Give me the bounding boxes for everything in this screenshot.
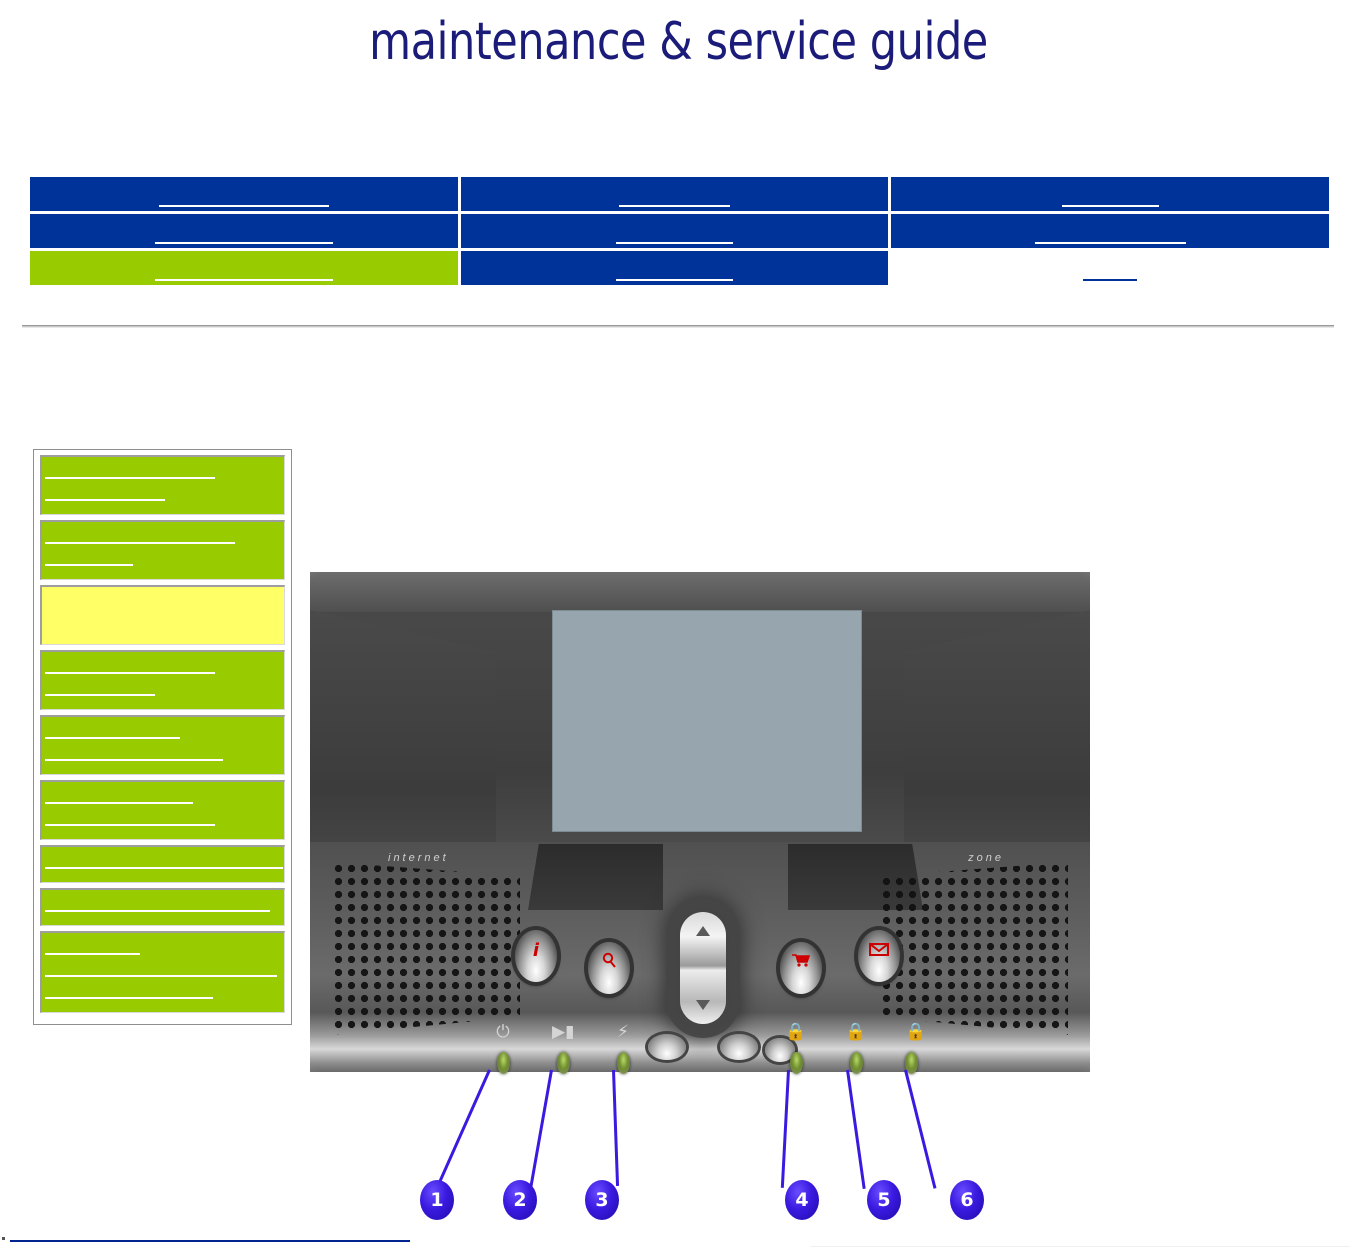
volume-rocker[interactable] xyxy=(680,912,726,1024)
left-hinge-panel xyxy=(528,844,663,910)
sidebar-link-4[interactable] xyxy=(45,659,281,703)
callout-1: 1 xyxy=(420,1180,454,1220)
sidebar-item-4[interactable] xyxy=(40,650,285,710)
rocker-up-icon xyxy=(696,926,710,936)
product-figure: internet zone i xyxy=(300,530,1100,1130)
ac-plug-icon: ⚡ xyxy=(612,1022,634,1042)
callout-4: 4 xyxy=(785,1180,819,1220)
info-icon: i xyxy=(515,940,557,961)
nav-row xyxy=(30,177,1329,211)
page-root: maintenance & service guide xyxy=(0,0,1357,1252)
mute-button[interactable] xyxy=(648,1034,686,1060)
sidebar-item-5[interactable] xyxy=(40,715,285,775)
nav-link-r3c2[interactable] xyxy=(616,266,733,281)
sidebar-item-7[interactable] xyxy=(40,845,285,883)
shopping-cart-icon xyxy=(780,952,822,973)
nav-cell-r3c2[interactable] xyxy=(461,251,888,285)
nav-cell-r3c1[interactable] xyxy=(30,251,458,285)
sidebar-item-2[interactable] xyxy=(40,520,285,580)
callout-5: 5 xyxy=(867,1180,901,1220)
display-screen xyxy=(552,610,862,832)
sidebar-item-9[interactable] xyxy=(40,931,285,1013)
sidebar-item-8[interactable] xyxy=(40,888,285,926)
nav-cell-r2c1[interactable] xyxy=(30,214,458,248)
battery-icon: ▶▮ xyxy=(552,1022,574,1042)
battery-led xyxy=(557,1052,570,1074)
scroll-lock-icon: 🔒 xyxy=(905,1022,927,1042)
nav-link-r2c2[interactable] xyxy=(616,229,733,244)
callout-3: 3 xyxy=(585,1180,619,1220)
search-button[interactable] xyxy=(588,942,630,994)
sidebar-link-1[interactable] xyxy=(45,464,281,508)
right-speaker-grille xyxy=(880,862,1068,1042)
sidebar-item-1[interactable] xyxy=(40,455,285,515)
sidebar-menu xyxy=(33,449,292,1025)
nav-cell-r1c3[interactable] xyxy=(891,177,1329,211)
nav-link-r1c3[interactable] xyxy=(1062,192,1159,207)
info-button[interactable]: i xyxy=(515,930,557,982)
sidebar-link-7[interactable] xyxy=(45,854,281,876)
page-title: maintenance & service guide xyxy=(54,12,1302,72)
shopping-button[interactable] xyxy=(780,942,822,994)
nav-link-r1c1[interactable] xyxy=(159,192,330,207)
nav-cell-r1c1[interactable] xyxy=(30,177,458,211)
nav-cell-r2c2[interactable] xyxy=(461,214,888,248)
nav-row xyxy=(30,214,1329,248)
sidebar-link-5[interactable] xyxy=(45,724,281,768)
sidebar-link-9[interactable] xyxy=(45,940,281,1006)
sidebar-link-8[interactable] xyxy=(45,897,281,919)
power-icon: ⏻ xyxy=(492,1022,514,1042)
rocker-down-icon xyxy=(696,1000,710,1010)
sidebar-link-3 xyxy=(45,594,281,638)
caps-lock-led xyxy=(790,1052,803,1074)
notebook-front-photo: internet zone i xyxy=(300,530,1100,1098)
header-divider xyxy=(22,325,1334,328)
ac-adapter-led xyxy=(617,1052,630,1074)
caps-lock-icon: 🔒 xyxy=(785,1022,807,1042)
nav-cell-r2c3[interactable] xyxy=(891,214,1329,248)
sidebar-item-6[interactable] xyxy=(40,780,285,840)
nav-cell-r1c2[interactable] xyxy=(461,177,888,211)
volume-button[interactable] xyxy=(720,1034,758,1060)
nav-cell-r3c3[interactable] xyxy=(891,251,1329,285)
num-lock-led xyxy=(850,1052,863,1074)
power-led xyxy=(497,1052,510,1074)
footer-bullet xyxy=(2,1237,5,1240)
top-navigation-table xyxy=(27,174,1332,288)
sidebar-link-2[interactable] xyxy=(45,529,281,573)
callout-2: 2 xyxy=(503,1180,537,1220)
nav-link-r2c1[interactable] xyxy=(155,229,332,244)
footer-faint-rule xyxy=(810,1246,1350,1247)
magnifier-icon xyxy=(588,952,630,974)
left-speaker-grille xyxy=(332,862,520,1042)
footer-link-underline[interactable] xyxy=(10,1240,410,1242)
zone-label: zone xyxy=(968,852,1004,864)
nav-link-r1c2[interactable] xyxy=(619,192,730,207)
internet-label: internet xyxy=(388,852,449,864)
nav-link-r3c3[interactable] xyxy=(1083,266,1137,281)
nav-row xyxy=(30,251,1329,285)
sidebar-item-3-current[interactable] xyxy=(40,585,285,645)
top-bezel xyxy=(310,572,1090,612)
num-lock-icon: 🔒 xyxy=(845,1022,867,1042)
email-button[interactable] xyxy=(858,930,900,982)
nav-link-r2c3[interactable] xyxy=(1035,229,1186,244)
envelope-icon xyxy=(858,940,900,961)
nav-link-r3c1[interactable] xyxy=(155,266,332,281)
callout-6: 6 xyxy=(950,1180,984,1220)
sidebar-link-6[interactable] xyxy=(45,789,281,833)
